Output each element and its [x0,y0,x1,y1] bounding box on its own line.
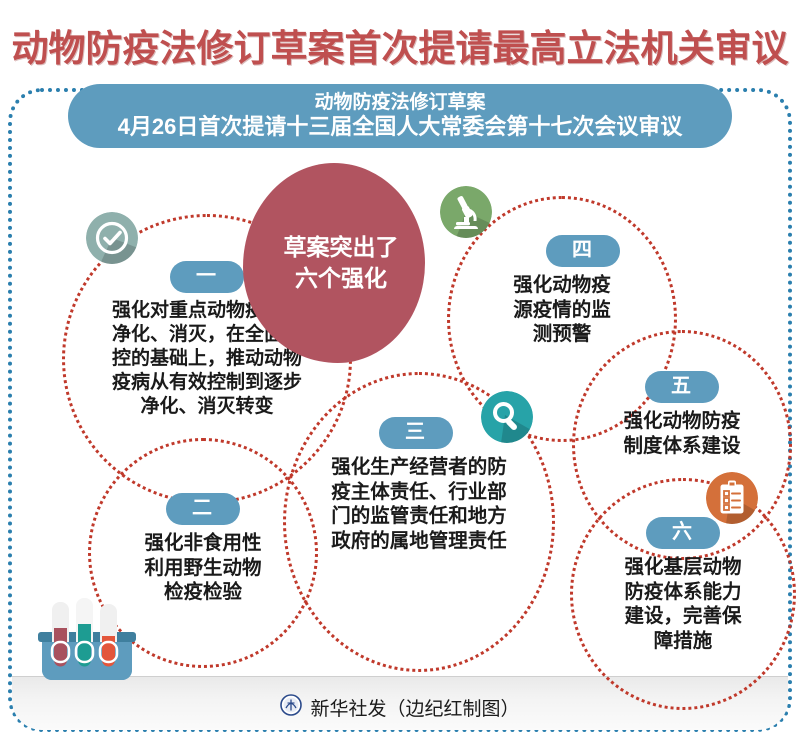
page-title: 动物防疫法修订草案首次提请最高立法机关审议 [0,18,800,72]
magnifier-icon [481,391,533,443]
item-badge-1: 一 [170,261,244,293]
center-line-2: 六个强化 [295,263,387,294]
item-badge-6: 六 [646,517,720,549]
item-text-2: 强化非食用性 利用野生动物 检疫检验 [144,531,261,605]
item-bubble-6: 六 强化基层动物 防疫体系能力 建设，完善保 障措施 [570,478,796,710]
item-text-4: 强化动物疫 源疫情的监 测预警 [513,273,611,347]
test-tubes-icon [28,592,146,690]
subtitle-line-1: 动物防疫法修订草案 [314,92,485,114]
credit-text: 新华社发（边纪红制图） [310,694,519,721]
item-badge-5: 五 [645,371,719,403]
item-text-5: 强化动物防疫 制度体系建设 [623,409,740,458]
item-badge-4: 四 [546,235,620,267]
subtitle-line-2: 4月26日首次提请十三届全国人大常委会第十七次会议审议 [118,114,683,140]
item-badge-2: 二 [166,493,240,525]
credit-line: 新华社发（边纪红制图） [0,694,800,721]
infographic-poster: 动物防疫法修订草案首次提请最高立法机关审议 动物防疫法修订草案 4月26日首次提… [0,0,800,744]
item-text-6: 强化基层动物 防疫体系能力 建设，完善保 障措施 [624,555,741,653]
center-highlight-blob: 草案突出了 六个强化 [243,163,425,363]
center-line-1: 草案突出了 [284,232,399,263]
xinhua-logo-icon [280,694,302,721]
item-badge-3: 三 [379,417,453,449]
microscope-icon [440,186,492,238]
subtitle-banner: 动物防疫法修订草案 4月26日首次提请十三届全国人大常委会第十七次会议审议 [68,84,732,148]
clipboard-checklist-icon [706,472,758,524]
item-text-3: 强化生产经营者的防 疫主体责任、行业部 门的监管责任和地方 政府的属地管理责任 [331,455,507,553]
check-circle-icon [86,212,138,264]
